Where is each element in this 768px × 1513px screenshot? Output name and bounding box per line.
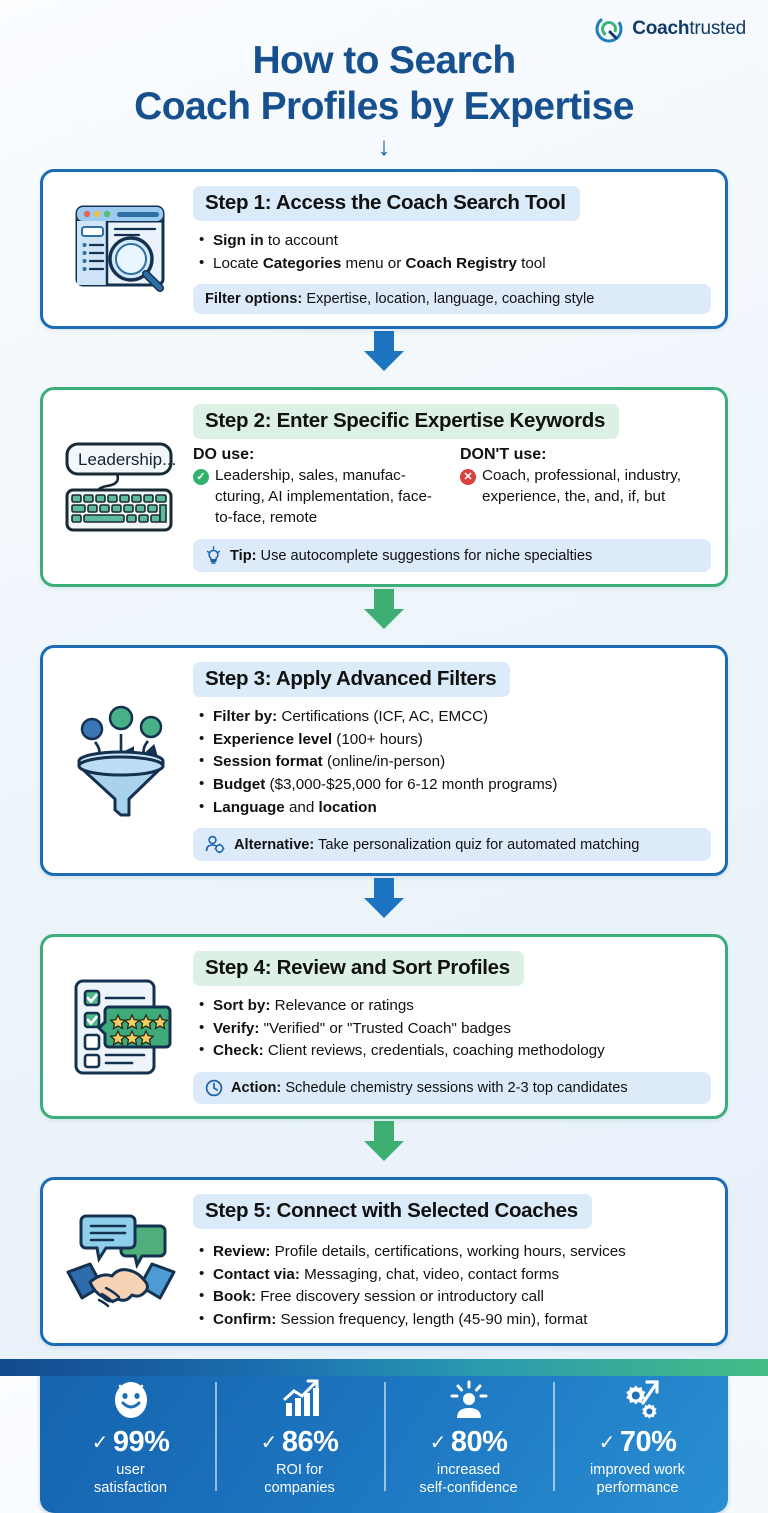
strip-label: Alternative:	[234, 837, 314, 853]
stat-user-satisfaction: ✓99% usersatisfaction	[46, 1376, 215, 1497]
step-card-1: Step 1: Access the Coach Search Tool Sig…	[40, 169, 728, 329]
stat-value: 99%	[113, 1426, 170, 1459]
list-item: Sort by: Relevance or ratings	[197, 995, 711, 1017]
x-circle-icon: ✕	[460, 469, 476, 485]
clock-icon	[205, 1079, 223, 1097]
do-text: Leadership, sales, manufac-cturing, AI i…	[215, 466, 444, 529]
check-icon: ✓	[92, 1430, 108, 1455]
lightbulb-icon	[205, 546, 222, 565]
list-item: Budget ($3,000-$25,000 for 6-12 month pr…	[197, 774, 711, 796]
user-settings-icon	[205, 835, 226, 854]
step-title-3: Step 3: Apply Advanced Filters	[193, 662, 510, 697]
title-line-1: How to Search	[252, 39, 515, 82]
list-item: Check: Client reviews, credentials, coac…	[197, 1040, 711, 1062]
step-title-2: Step 2: Enter Specific Expertise Keyword…	[193, 404, 619, 439]
strip-label: Tip:	[230, 548, 256, 564]
step-1-filter-options-strip: Filter options: Expertise, location, lan…	[193, 284, 711, 314]
list-item: Locate Categories menu or Coach Registry…	[197, 253, 711, 275]
checklist-rating-icon	[55, 949, 187, 1104]
confident-person-icon	[388, 1376, 549, 1424]
step-2-tip-strip: Tip: Use autocomplete suggestions for ni…	[193, 539, 711, 572]
connector-2-to-3	[40, 587, 728, 633]
do-column: DO use: ✓ Leadership, sales, manufac-ctu…	[193, 446, 444, 529]
list-item: Sign in to account	[197, 230, 711, 252]
list-item: Verify: "Verified" or "Trusted Coach" ba…	[197, 1018, 711, 1040]
gears-arrow-icon	[557, 1376, 718, 1424]
step-card-2: Leadership...	[40, 387, 728, 587]
step-title-4: Step 4: Review and Sort Profiles	[193, 951, 524, 986]
do-dont-columns: DO use: ✓ Leadership, sales, manufac-ctu…	[193, 446, 711, 529]
svg-text:Leadership...: Leadership...	[78, 450, 176, 469]
check-icon: ✓	[261, 1430, 277, 1455]
strip-label: Action:	[231, 1080, 281, 1096]
bottom-gradient-bar	[0, 1359, 768, 1376]
list-item: Review: Profile details, certifications,…	[197, 1241, 711, 1263]
stat-self-confidence: ✓80% increasedself-confidence	[384, 1376, 553, 1497]
stat-value: 80%	[451, 1426, 508, 1459]
infographic-page: Coachtrusted How to Search Coach Profile…	[0, 0, 768, 1376]
strip-text: Take personalization quiz for automated …	[314, 837, 639, 853]
stat-value: 70%	[620, 1426, 677, 1459]
list-item: Contact via: Messaging, chat, video, con…	[197, 1264, 711, 1286]
step-card-5: Step 5: Connect with Selected Coaches Re…	[40, 1177, 728, 1346]
list-item: Experience level (100+ hours)	[197, 729, 711, 751]
brand-name: Coachtrusted	[632, 18, 746, 40]
step-5-bullets: Review: Profile details, certifications,…	[197, 1241, 711, 1330]
smiley-face-icon	[50, 1376, 211, 1424]
step-4-action-strip: Action: Schedule chemistry sessions with…	[193, 1072, 711, 1104]
keyboard-search-icon: Leadership...	[55, 402, 187, 572]
connector-1-to-2	[40, 329, 728, 375]
list-item: Book: Free discovery session or introduc…	[197, 1286, 711, 1308]
step-1-bullets: Sign in to account Locate Categories men…	[197, 230, 711, 274]
browser-search-icon	[55, 184, 187, 314]
check-icon: ✓	[430, 1430, 446, 1455]
step-3-alternative-strip: Alternative: Take personalization quiz f…	[193, 828, 711, 861]
step-card-3: Step 3: Apply Advanced Filters Filter by…	[40, 645, 728, 876]
stats-bar: ✓99% usersatisfaction ✓86% ROI forcompan…	[40, 1362, 728, 1513]
strip-text: Schedule chemistry sessions with 2-3 top…	[281, 1080, 627, 1096]
list-item: Filter by: Certifications (ICF, AC, EMCC…	[197, 706, 711, 728]
strip-text: Expertise, location, language, coaching …	[302, 291, 594, 307]
list-item: Confirm: Session frequency, length (45-9…	[197, 1309, 711, 1331]
dont-text: Coach, professional, industry, experienc…	[482, 466, 711, 508]
brand-logo: Coachtrusted	[594, 14, 746, 44]
dont-column: DON'T use: ✕ Coach, professional, indust…	[460, 446, 711, 529]
step-4-bullets: Sort by: Relevance or ratings Verify: "V…	[197, 995, 711, 1062]
title-down-arrow: ↓	[40, 135, 728, 157]
stat-roi-companies: ✓86% ROI forcompanies	[215, 1376, 384, 1497]
step-title-1: Step 1: Access the Coach Search Tool	[193, 186, 580, 221]
check-icon: ✓	[599, 1430, 615, 1455]
step-3-bullets: Filter by: Certifications (ICF, AC, EMCC…	[197, 706, 711, 818]
connector-3-to-4	[40, 876, 728, 922]
list-item: Language and location	[197, 797, 711, 819]
step-card-4: Step 4: Review and Sort Profiles Sort by…	[40, 934, 728, 1119]
list-item: Session format (online/in-person)	[197, 751, 711, 773]
growth-chart-icon	[219, 1376, 380, 1424]
handshake-chat-icon	[55, 1192, 187, 1331]
step-title-5: Step 5: Connect with Selected Coaches	[193, 1194, 592, 1229]
do-heading: DO use:	[193, 446, 444, 464]
stat-value: 86%	[282, 1426, 339, 1459]
strip-label: Filter options:	[205, 291, 302, 307]
stat-work-performance: ✓70% improved workperformance	[553, 1376, 722, 1497]
connector-4-to-5	[40, 1119, 728, 1165]
title-line-2: Coach Profiles by Expertise	[40, 84, 728, 130]
check-circle-icon: ✓	[193, 469, 209, 485]
funnel-filter-icon	[55, 660, 187, 861]
dont-heading: DON'T use:	[460, 446, 711, 464]
coach-logo-icon	[594, 14, 624, 44]
strip-text: Use autocomplete suggestions for niche s…	[256, 548, 592, 564]
